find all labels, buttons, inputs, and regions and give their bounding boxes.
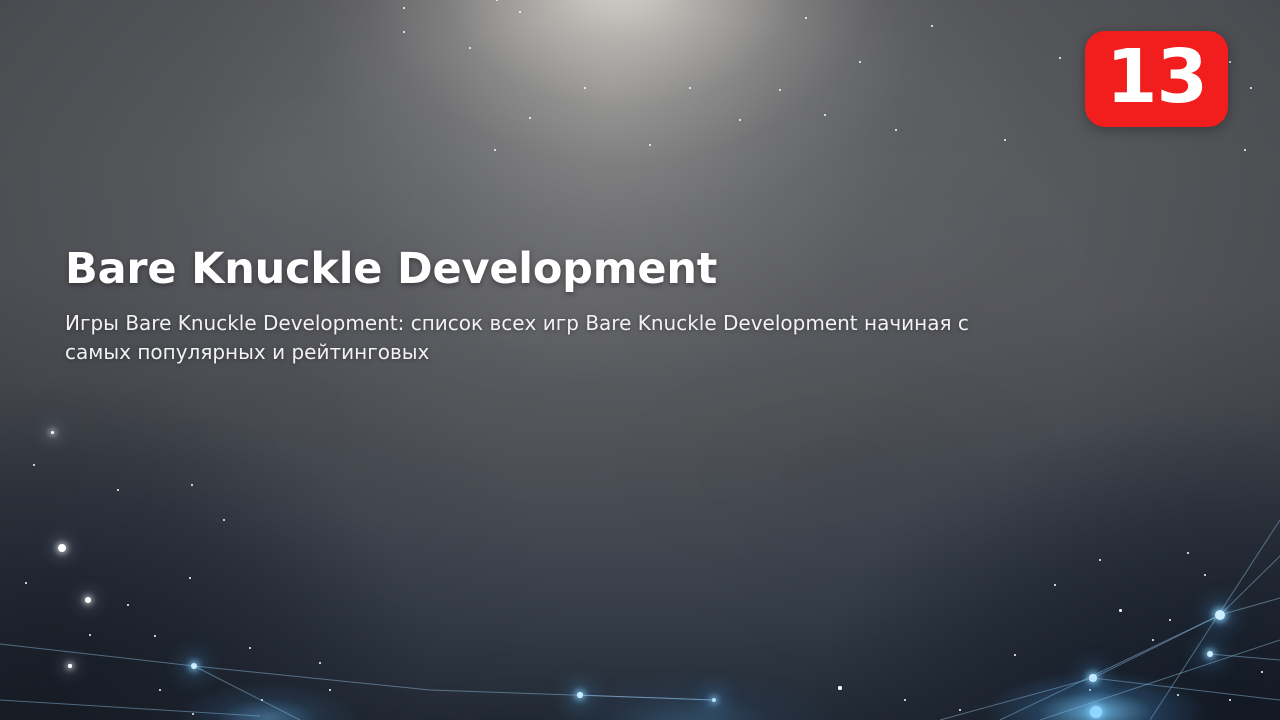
star-dot: [191, 484, 194, 487]
star-dot: [89, 634, 92, 637]
star-dot: [319, 662, 321, 664]
star-dot: [959, 709, 961, 711]
star-dot: [192, 713, 195, 716]
network-line: [940, 678, 1093, 720]
star-dot: [496, 0, 498, 1]
rank-badge-number: 13: [1106, 40, 1207, 114]
star-dot: [223, 519, 226, 522]
network-line: [1093, 678, 1280, 700]
star-dot: [329, 689, 331, 691]
star-dot: [33, 464, 36, 467]
star-dot: [1054, 584, 1057, 587]
star-dot: [403, 31, 405, 33]
star-dot: [469, 47, 471, 49]
star-dot: [1089, 689, 1091, 691]
star-dot: [779, 89, 781, 91]
rank-badge[interactable]: 13: [1085, 31, 1228, 127]
star-dot: [85, 597, 91, 603]
star-dot: [154, 635, 156, 637]
network-line: [430, 690, 714, 700]
star-dot: [805, 17, 807, 19]
network-node-dot: [1090, 706, 1102, 718]
star-dot: [931, 25, 933, 27]
network-line: [1093, 615, 1220, 678]
star-dot: [859, 61, 862, 64]
star-dot: [51, 431, 54, 434]
network-line: [1000, 615, 1220, 720]
star-dot: [1152, 639, 1154, 641]
network-line: [580, 695, 714, 700]
page-title: Bare Knuckle Development: [65, 243, 1045, 295]
network-line: [1040, 640, 1280, 720]
star-dot: [1229, 61, 1231, 63]
network-node-dot: [191, 663, 198, 670]
star-dot: [189, 577, 192, 580]
network-line: [1220, 556, 1280, 615]
star-dot: [117, 489, 119, 491]
star-dot: [904, 699, 906, 701]
star-dot: [1250, 87, 1252, 89]
star-dot: [159, 689, 161, 691]
star-dot: [1177, 694, 1179, 696]
star-dot: [1204, 574, 1206, 576]
star-dot: [519, 11, 521, 13]
network-line: [0, 700, 260, 716]
star-dot: [68, 664, 71, 667]
network-line: [1220, 598, 1280, 615]
star-dot: [249, 647, 252, 650]
star-dot: [649, 144, 651, 146]
star-dot: [25, 582, 27, 584]
network-line: [1150, 520, 1280, 720]
star-dot: [403, 7, 406, 10]
star-dot: [1119, 609, 1122, 612]
star-dot: [127, 604, 129, 606]
network-node-dot: [712, 698, 717, 703]
star-dot: [1014, 654, 1016, 656]
network-line: [1210, 654, 1280, 660]
star-dot: [824, 114, 826, 116]
network-line: [194, 666, 300, 720]
text-content-block: Bare Knuckle Development Игры Bare Knuck…: [65, 243, 1045, 367]
page-subtitle: Игры Bare Knuckle Development: список вс…: [65, 309, 1030, 367]
star-dot: [1261, 671, 1263, 673]
star-dot: [261, 699, 264, 702]
network-line: [194, 666, 430, 690]
network-node-dot: [1215, 610, 1225, 620]
network-node-dot: [1207, 651, 1214, 658]
star-dot: [1244, 149, 1246, 151]
star-dot: [689, 87, 691, 89]
star-dot: [1169, 619, 1171, 621]
star-dot: [739, 119, 741, 121]
star-dot: [58, 544, 66, 552]
star-dot: [494, 149, 496, 151]
star-dot: [1099, 559, 1101, 561]
network-node-dot: [1089, 674, 1096, 681]
star-dot: [1229, 699, 1231, 701]
slide-canvas: Bare Knuckle Development Игры Bare Knuck…: [0, 0, 1280, 720]
network-node-dot: [577, 692, 582, 697]
star-dot: [584, 87, 586, 89]
star-dot: [529, 117, 532, 120]
network-line: [0, 644, 194, 666]
star-dot: [1059, 57, 1061, 59]
star-dot: [1187, 552, 1190, 555]
star-dot: [838, 686, 841, 689]
star-dot: [895, 129, 897, 131]
star-dot: [1004, 139, 1006, 141]
